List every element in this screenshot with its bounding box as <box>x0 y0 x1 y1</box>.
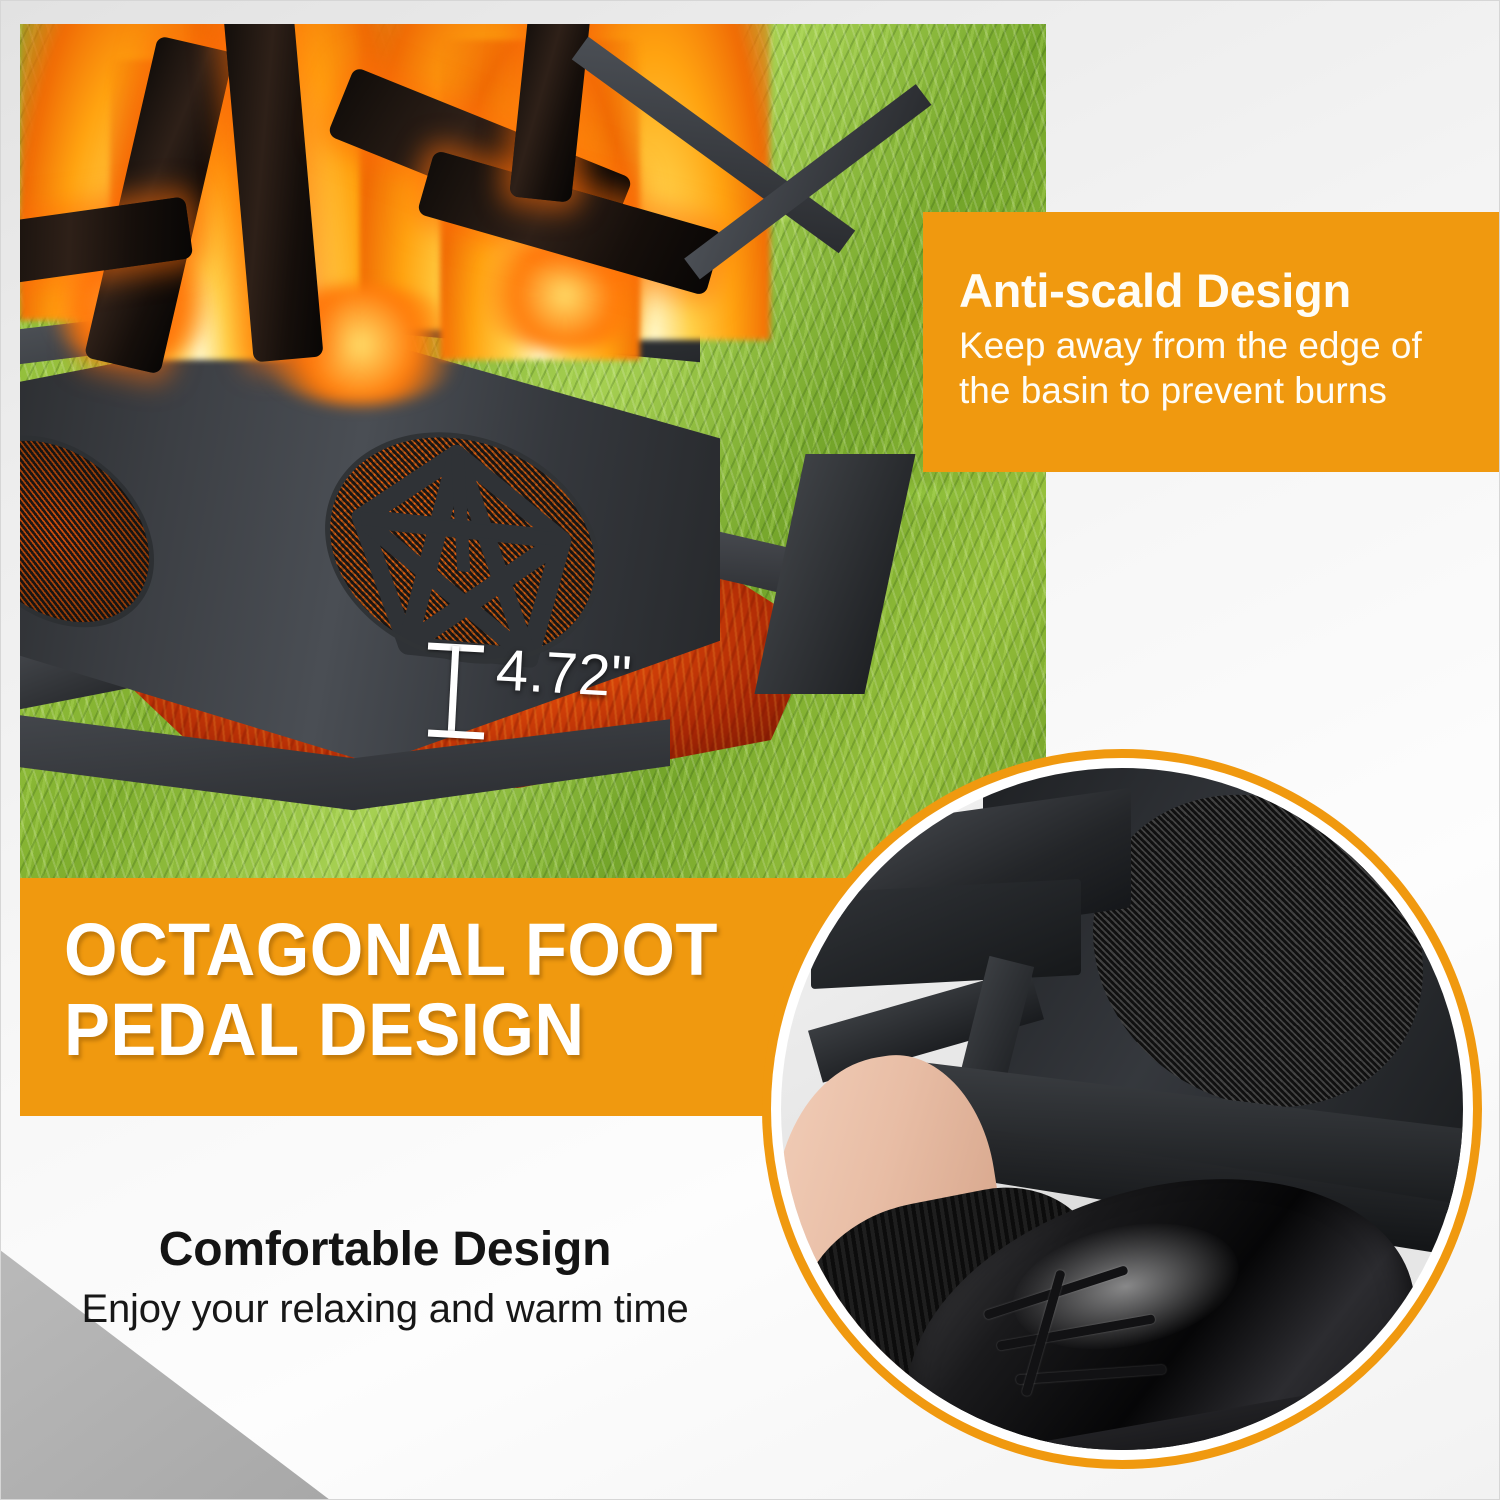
main-product-photo: 4.72" <box>20 24 1046 878</box>
product-feature-graphic: 4.72" Anti-scald Design Keep away from t… <box>0 0 1500 1500</box>
callout-body: Keep away from the edge of the basin to … <box>959 323 1464 413</box>
dimension-value-label: 4.72" <box>494 636 633 710</box>
callout-heading: Anti-scald Design <box>959 266 1464 315</box>
circle-inset-white-ring <box>771 758 1473 1460</box>
inset-foot-pedal-plate-lower <box>811 879 1081 989</box>
circle-inset-photo <box>781 768 1463 1450</box>
dimension-line <box>448 646 460 734</box>
bottom-subheading: Enjoy your relaxing and warm time <box>0 1287 770 1332</box>
anti-scald-callout-box: Anti-scald Design Keep away from the edg… <box>923 212 1500 472</box>
feature-title-band: OCTAGONAL FOOT PEDAL DESIGN <box>20 878 856 1116</box>
dimension-annotation: 4.72" <box>428 632 668 752</box>
feature-title: OCTAGONAL FOOT PEDAL DESIGN <box>64 910 791 1070</box>
dimension-cap-bottom <box>428 730 484 740</box>
comfortable-design-text-block: Comfortable Design Enjoy your relaxing a… <box>0 1222 770 1332</box>
burning-logs-and-flames <box>20 24 800 430</box>
foot-pedal-circle-inset <box>762 749 1482 1469</box>
bottom-heading: Comfortable Design <box>0 1222 770 1277</box>
